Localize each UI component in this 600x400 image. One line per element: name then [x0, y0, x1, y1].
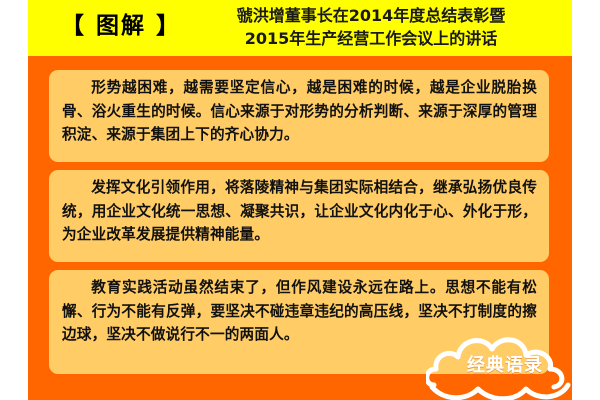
header-band: 【 图解 】 虢洪增董事长在2014年度总结表彰暨 2015年生产经营工作会议上… [28, 0, 572, 56]
quote-card-text: 发挥文化引领作用，将落陵精神与集团实际相结合，继承弘扬优良传统，用企业文化统一思… [62, 177, 537, 248]
quote-card: 发挥文化引领作用，将落陵精神与集团实际相结合，继承弘扬优良传统，用企业文化统一思… [49, 170, 549, 262]
header-inner: 【 图解 】 虢洪增董事长在2014年度总结表彰暨 2015年生产经营工作会议上… [28, 0, 572, 56]
tag-label: 【 图解 】 [56, 11, 186, 41]
page-title-line-1: 虢洪增董事长在2014年度总结表彰暨 [196, 4, 546, 27]
page-title-line-2: 2015年生产经营工作会议上的讲话 [196, 27, 546, 50]
body-band: 形势越困难，越需要坚定信心，越是困难的时候，越是企业脱胎换骨、浴火重生的时候。信… [28, 56, 572, 400]
classic-quotes-badge: 经典语录 [426, 331, 572, 400]
poster-canvas: 【 图解 】 虢洪增董事长在2014年度总结表彰暨 2015年生产经营工作会议上… [0, 0, 600, 400]
badge-label: 经典语录 [450, 355, 560, 377]
quote-card-text: 形势越困难，越需要坚定信心，越是困难的时候，越是企业脱胎换骨、浴火重生的时候。信… [62, 77, 537, 148]
quote-card: 形势越困难，越需要坚定信心，越是困难的时候，越是企业脱胎换骨、浴火重生的时候。信… [49, 70, 549, 162]
page-title: 虢洪增董事长在2014年度总结表彰暨 2015年生产经营工作会议上的讲话 [196, 4, 546, 50]
